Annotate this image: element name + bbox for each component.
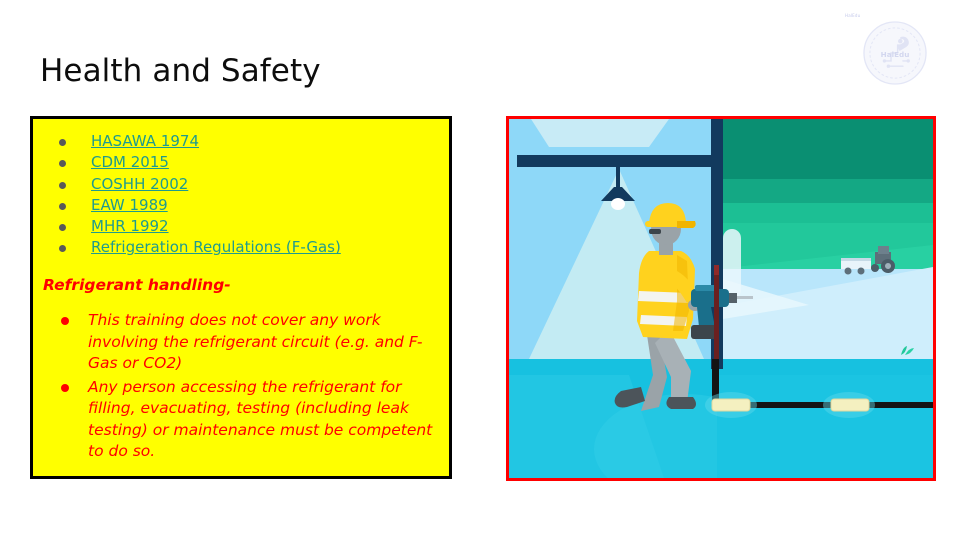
refrigerant-handling-heading: Refrigerant handling- [43,276,449,294]
content-box: HASAWA 1974 CDM 2015 COSHH 2002 EAW 1989… [30,116,452,479]
list-item[interactable]: Refrigeration Regulations (F-Gas) [33,237,449,258]
legislation-link-hasawa[interactable]: HASAWA 1974 [91,132,199,150]
list-item: This training does not cover any work in… [33,310,449,375]
list-item[interactable]: COSHH 2002 [33,174,449,195]
bullet-icon [59,203,66,210]
illustration-frame [506,116,936,481]
brand-logo-icon: HalEdu [862,20,928,86]
page-title: Health and Safety [40,54,321,90]
legislation-link-cdm[interactable]: CDM 2015 [91,153,169,171]
bullet-icon [59,245,66,252]
legislation-link-eaw[interactable]: EAW 1989 [91,196,168,214]
list-item[interactable]: MHR 1992 [33,216,449,237]
list-item[interactable]: CDM 2015 [33,152,449,173]
refrigerant-notes-list: This training does not cover any work in… [33,310,449,463]
legislation-link-refrigeration-regulations[interactable]: Refrigeration Regulations (F-Gas) [91,238,341,256]
legislation-link-list: HASAWA 1974 CDM 2015 COSHH 2002 EAW 1989… [33,119,449,258]
list-item[interactable]: EAW 1989 [33,195,449,216]
bullet-icon [59,139,66,146]
refrigerant-note-text: Any person accessing the refrigerant for… [88,378,432,461]
bullet-icon [61,384,69,392]
brand-tagline: HalEdu [845,13,860,18]
refrigerant-note-text: This training does not cover any work in… [88,311,422,372]
bullet-icon [59,160,66,167]
list-item[interactable]: HASAWA 1974 [33,131,449,152]
legislation-link-mhr[interactable]: MHR 1992 [91,217,169,235]
bullet-icon [59,182,66,189]
logo-text: HalEdu [881,50,910,59]
legislation-link-coshh[interactable]: COSHH 2002 [91,175,188,193]
construction-worker-illustration [509,119,933,478]
bullet-icon [61,317,69,325]
list-item: Any person accessing the refrigerant for… [33,377,449,463]
slide-canvas: Health and Safety HASAWA 1974 CDM 2015 C… [0,0,960,540]
logo-circuit-gear-icon: HalEdu [862,20,928,86]
bullet-icon [59,224,66,231]
